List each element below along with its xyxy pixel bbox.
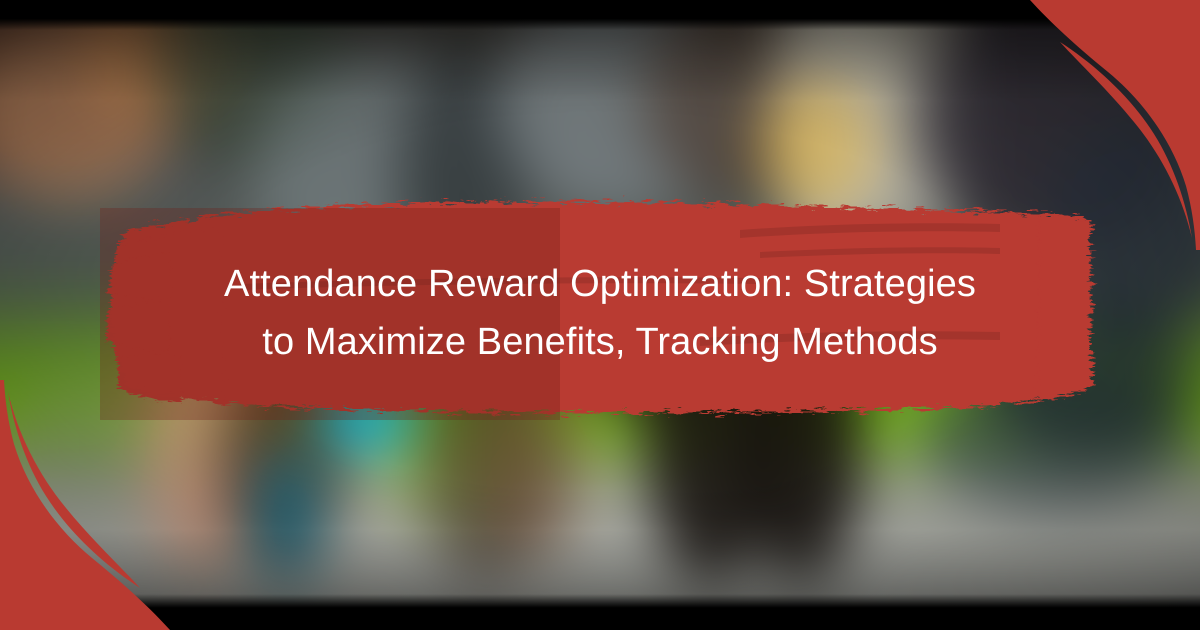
page-title-line-2: to Maximize Benefits, Tracking Methods	[262, 313, 937, 371]
page-title-line-1: Attendance Reward Optimization: Strategi…	[224, 255, 976, 313]
social-share-card: Attendance Reward Optimization: Strategi…	[0, 0, 1200, 630]
letterbox-bar-top	[0, 0, 1200, 30]
title-banner: Attendance Reward Optimization: Strategi…	[0, 188, 1200, 438]
letterbox-bar-bottom	[0, 594, 1200, 630]
page-title: Attendance Reward Optimization: Strategi…	[150, 188, 1050, 438]
